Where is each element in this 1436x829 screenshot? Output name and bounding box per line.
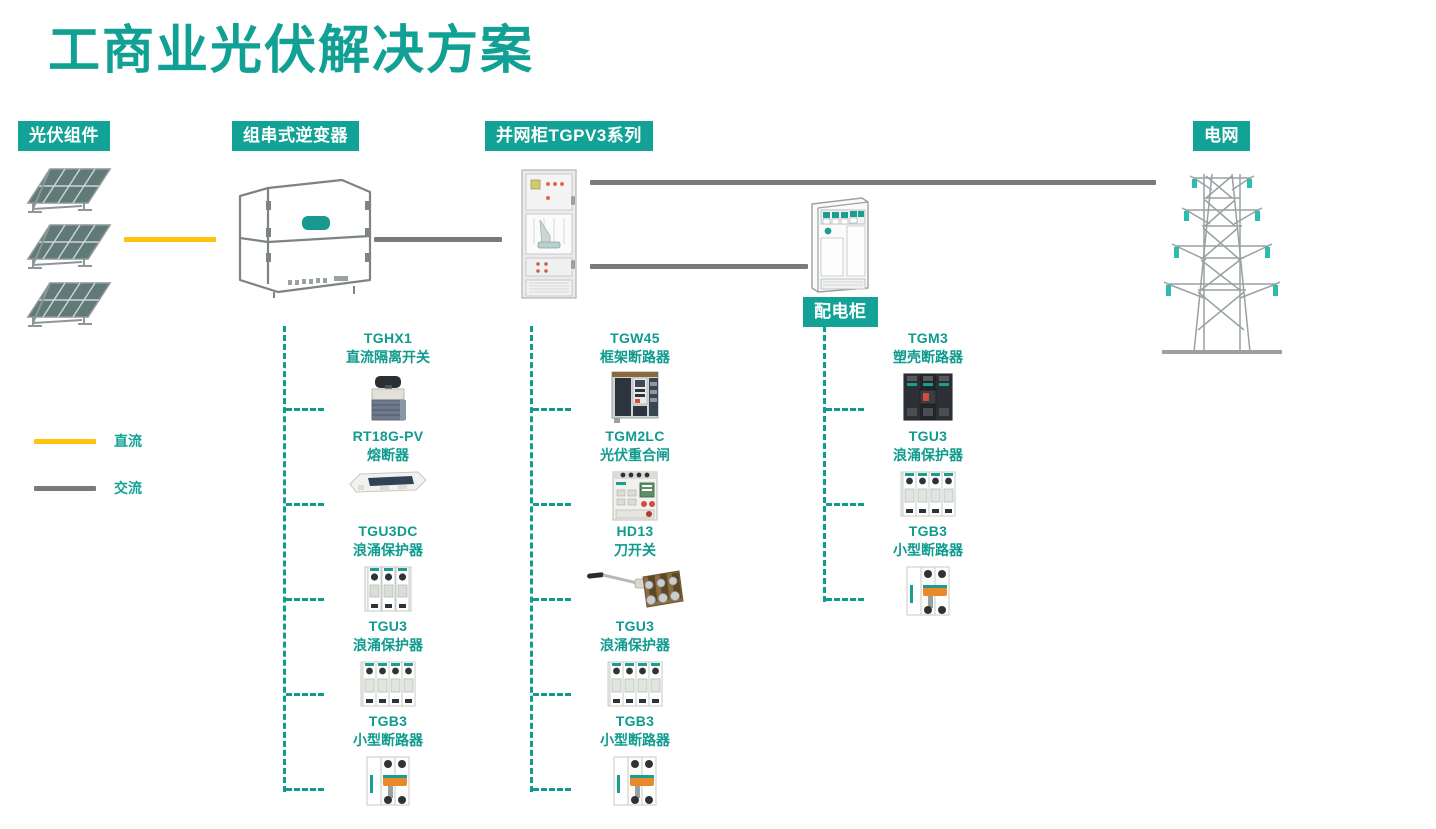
air-circuit-breaker-icon <box>530 368 740 424</box>
component-code: RT18G-PV <box>283 428 493 446</box>
component-name: 熔断器 <box>283 446 493 464</box>
component-code: TGM2LC <box>530 428 740 446</box>
component-card[interactable]: RT18G-PV 熔断器 <box>283 428 493 498</box>
badge-string-inverter: 组串式逆变器 <box>232 121 359 151</box>
branch-stub-1-2 <box>286 503 324 506</box>
component-card[interactable]: TGU3DC 浪涌保护器 <box>283 523 493 617</box>
component-card[interactable]: TGU3 浪涌保护器 <box>283 618 493 712</box>
component-card[interactable]: TGU3 浪涌保护器 <box>823 428 1033 522</box>
component-name: 浪涌保护器 <box>283 541 493 559</box>
component-code: TGHX1 <box>283 330 493 348</box>
component-card[interactable]: TGU3 浪涌保护器 <box>530 618 740 712</box>
pv-array-3 <box>24 277 116 334</box>
column-inverter-branch: TGHX1 直流隔离开关 RT18G-PV 熔断器 <box>283 326 495 826</box>
component-name: 浪涌保护器 <box>530 636 740 654</box>
grid-tie-cabinet <box>520 168 578 305</box>
legend-item-ac: 交流 <box>34 478 142 498</box>
dc-flow-line <box>124 237 216 242</box>
knife-switch-icon <box>530 561 740 613</box>
legend-dc-label: 直流 <box>114 431 142 451</box>
legend-ac-label: 交流 <box>114 478 142 498</box>
component-code: TGM3 <box>823 330 1033 348</box>
component-name: 塑壳断路器 <box>823 348 1033 366</box>
component-name: 小型断路器 <box>530 731 740 749</box>
surge-protector-3p-icon <box>283 561 493 617</box>
miniature-circuit-breaker-icon <box>283 751 493 811</box>
badge-grid-cabinet: 并网柜TGPV3系列 <box>485 121 653 151</box>
component-code: TGU3 <box>823 428 1033 446</box>
component-name: 小型断路器 <box>823 541 1033 559</box>
legend-ac-line <box>34 486 96 491</box>
component-code: TGB3 <box>530 713 740 731</box>
component-card[interactable]: TGB3 小型断路器 <box>530 713 740 811</box>
component-name: 浪涌保护器 <box>283 636 493 654</box>
legend-dc-line <box>34 439 96 444</box>
component-code: TGU3 <box>530 618 740 636</box>
dc-isolator-switch-icon <box>283 368 493 426</box>
fuse-holder-icon <box>283 466 493 498</box>
ac-flow-line-tower <box>590 180 1156 185</box>
badge-pv-modules: 光伏组件 <box>18 121 110 151</box>
column-grid-cabinet-branch: TGW45 框架断路器 TGM2LC <box>530 326 742 826</box>
component-name: 光伏重合闸 <box>530 446 740 464</box>
component-code: TGB3 <box>823 523 1033 541</box>
component-card[interactable]: HD13 刀开关 <box>530 523 740 613</box>
badge-distribution-cabinet: 配电柜 <box>803 297 878 327</box>
distribution-cabinet <box>806 196 874 299</box>
pv-recloser-icon <box>530 466 740 524</box>
component-name: 刀开关 <box>530 541 740 559</box>
moulded-case-circuit-breaker-icon <box>823 368 1033 424</box>
ac-flow-line-distribution <box>590 264 808 269</box>
component-card[interactable]: TGW45 框架断路器 <box>530 330 740 424</box>
component-name: 浪涌保护器 <box>823 446 1033 464</box>
component-code: TGW45 <box>530 330 740 348</box>
component-code: TGU3 <box>283 618 493 636</box>
surge-protector-4p-icon <box>530 656 740 712</box>
component-name: 直流隔离开关 <box>283 348 493 366</box>
component-card[interactable]: TGM2LC 光伏重合闸 <box>530 428 740 524</box>
badge-power-grid: 电网 <box>1193 121 1250 151</box>
surge-protector-4p-icon <box>823 466 1033 522</box>
component-card[interactable]: TGB3 小型断路器 <box>283 713 493 811</box>
surge-protector-4p-icon <box>283 656 493 712</box>
pv-array-2 <box>24 219 116 276</box>
component-name: 框架断路器 <box>530 348 740 366</box>
component-card[interactable]: TGHX1 直流隔离开关 <box>283 330 493 426</box>
component-name: 小型断路器 <box>283 731 493 749</box>
ac-flow-line-inverter <box>374 237 502 242</box>
transmission-tower <box>1160 166 1284 363</box>
page-title: 工商业光伏解决方案 <box>48 22 534 82</box>
component-code: TGU3DC <box>283 523 493 541</box>
column-distribution-branch: TGM3 塑壳断路器 TGU3 浪涌保护器 <box>823 326 1035 636</box>
miniature-circuit-breaker-icon <box>823 561 1033 621</box>
diagram-canvas: 工商业光伏解决方案 光伏组件 组串式逆变器 并网柜TGPV3系列 配电柜 电网 <box>0 0 1436 829</box>
legend-item-dc: 直流 <box>34 431 142 451</box>
component-card[interactable]: TGB3 小型断路器 <box>823 523 1033 621</box>
string-inverter <box>230 168 378 305</box>
pv-array-1 <box>24 163 116 220</box>
component-card[interactable]: TGM3 塑壳断路器 <box>823 330 1033 424</box>
miniature-circuit-breaker-icon <box>530 751 740 811</box>
component-code: TGB3 <box>283 713 493 731</box>
component-code: HD13 <box>530 523 740 541</box>
